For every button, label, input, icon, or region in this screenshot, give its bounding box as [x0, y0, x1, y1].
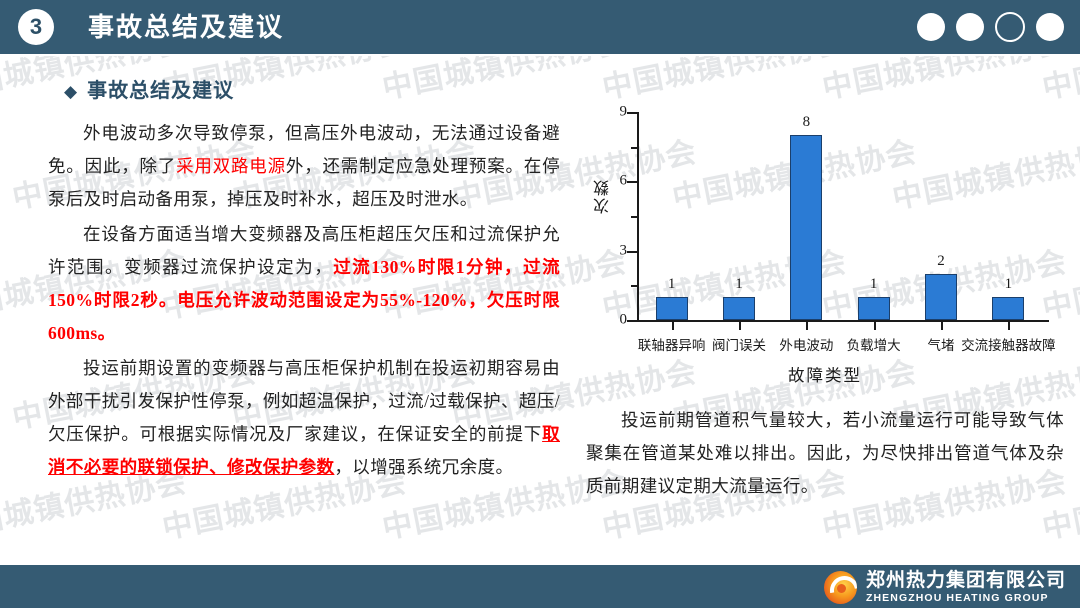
chart-bar-value-label: 1	[870, 276, 878, 293]
chart-bar	[790, 135, 822, 320]
chart-x-tick-label: 联轴器异响	[638, 334, 706, 354]
dot-3-icon[interactable]	[995, 12, 1025, 42]
chart-y-tick	[627, 251, 637, 253]
chart-bar	[656, 297, 688, 320]
chart-bar-value-label: 8	[803, 114, 811, 131]
chart-x-tick	[739, 322, 741, 330]
chart-x-tick	[941, 322, 943, 330]
chart-x-tick	[672, 322, 674, 330]
chart-plot-area: 118121	[638, 112, 1042, 320]
p3-run-2: ，以增强系统冗余度。	[334, 457, 513, 477]
diamond-bullet-icon: ◆	[64, 82, 78, 101]
chart-y-tick	[627, 112, 637, 114]
p1-run-1-highlight: 采用双路电源	[176, 156, 286, 176]
chart-y-tick-label: 3	[586, 242, 627, 259]
chart-x-tick	[874, 322, 876, 330]
chart-x-tick-label: 阀门误关	[712, 334, 766, 354]
chart-y-minor-tick	[631, 147, 637, 149]
company-logo: 郑州热力集团有限公司 ZHENGZHOU HEATING GROUP	[824, 570, 1066, 604]
chart-bar-value-label: 2	[937, 253, 945, 270]
section-heading: ◆事故总结及建议	[64, 74, 560, 103]
chart-x-axis-title: 故障类型	[586, 362, 1064, 386]
right-content-column: 次数 118121 联轴器异响阀门误关外电波动负载增大气堵交流接触器故障0369…	[586, 104, 1064, 521]
chart-bar	[992, 297, 1024, 320]
chart-bar	[925, 274, 957, 320]
dot-4-icon[interactable]	[1036, 13, 1064, 41]
paragraph-2: 在设备方面适当增大变频器及高压柜超压欠压和过流保护允许范围。变频器过流保护设定为…	[48, 218, 560, 350]
right-paragraph: 投运前期管道积气量较大，若小流量运行可能导致气体聚集在管道某处难以排出。因此，为…	[586, 404, 1064, 503]
paragraph-1: 外电波动多次导致停泵，但高压外电波动，无法通过设备避免。因此，除了采用双路电源外…	[48, 117, 560, 216]
p3-run-0: 投运前期设置的变频器与高压柜保护机制在投运初期容易由外部干扰引发保护性停泵，例如…	[48, 358, 560, 444]
chart-y-tick-label: 6	[586, 173, 627, 190]
chart-x-tick-label: 交流接触器故障	[961, 334, 1056, 354]
section-heading-label: 事故总结及建议	[87, 80, 234, 102]
dot-2-icon[interactable]	[956, 13, 984, 41]
fault-type-bar-chart: 次数 118121 联轴器异响阀门误关外电波动负载增大气堵交流接触器故障0369…	[586, 104, 1064, 384]
chart-x-tick	[806, 322, 808, 330]
page-title: 事故总结及建议	[88, 9, 284, 45]
chart-x-tick	[1008, 322, 1010, 330]
slide-header: 3 事故总结及建议	[0, 0, 1080, 54]
chart-bar-value-label: 1	[1005, 276, 1013, 293]
chart-bar-value-label: 1	[668, 276, 676, 293]
chart-bar-value-label: 1	[735, 276, 743, 293]
chart-bar	[723, 297, 755, 320]
dot-1-icon[interactable]	[917, 13, 945, 41]
slide: 中国城镇供热协会中国城镇供热协会中国城镇供热协会中国城镇供热协会中国城镇供热协会…	[0, 0, 1080, 608]
chart-y-tick	[627, 181, 637, 183]
chart-y-tick-label: 9	[586, 104, 627, 121]
chart-y-minor-tick	[631, 285, 637, 287]
left-content-column: ◆事故总结及建议 外电波动多次导致停泵，但高压外电波动，无法通过设备避免。因此，…	[48, 74, 560, 486]
swirl-logo-icon	[824, 571, 857, 604]
chart-x-tick-label: 负载增大	[847, 334, 901, 354]
chart-y-tick-label: 0	[586, 312, 627, 329]
chart-y-tick	[627, 320, 637, 322]
company-name-en: ZHENGZHOU HEATING GROUP	[866, 593, 1066, 604]
chart-x-tick-label: 外电波动	[779, 334, 833, 354]
company-logo-text: 郑州热力集团有限公司 ZHENGZHOU HEATING GROUP	[866, 571, 1066, 604]
chart-bar	[858, 297, 890, 320]
section-number-badge: 3	[18, 9, 54, 45]
progress-dots	[917, 12, 1064, 42]
chart-x-tick-label: 气堵	[928, 334, 955, 354]
paragraph-3: 投运前期设置的变频器与高压柜保护机制在投运初期容易由外部干扰引发保护性停泵，例如…	[48, 352, 560, 484]
chart-x-axis-line	[637, 320, 1049, 322]
header-divider	[0, 54, 1080, 56]
company-name-cn: 郑州热力集团有限公司	[866, 571, 1066, 590]
chart-y-minor-tick	[631, 216, 637, 218]
slide-footer: 郑州热力集团有限公司 ZHENGZHOU HEATING GROUP	[0, 565, 1080, 608]
